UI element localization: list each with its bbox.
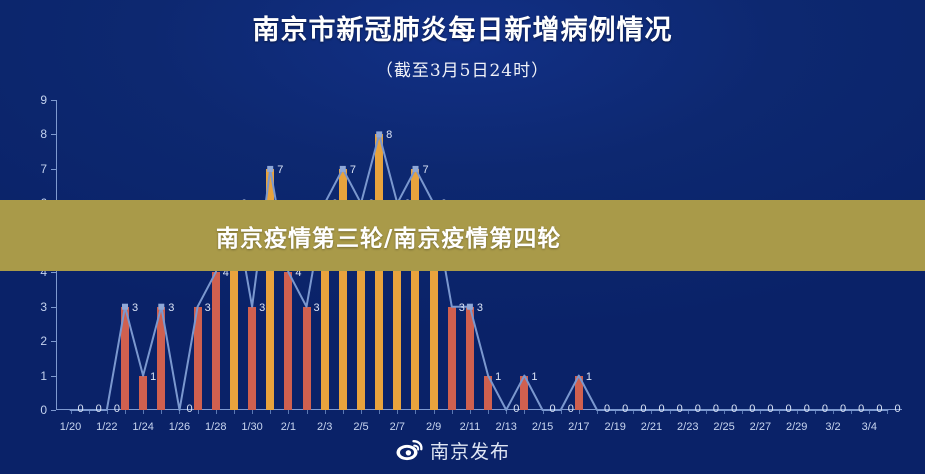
value-label: 0 — [658, 403, 664, 415]
value-label: 0 — [767, 403, 773, 415]
x-tick-mark — [452, 410, 453, 414]
value-label: 3 — [459, 302, 465, 314]
y-tick-label: 8 — [40, 127, 47, 141]
value-label: 0 — [604, 403, 610, 415]
y-tick-label: 3 — [40, 300, 47, 314]
x-tick-label: 1/26 — [169, 421, 190, 433]
x-tick-mark — [198, 410, 199, 414]
x-tick-label: 2/5 — [353, 421, 368, 433]
value-label: 0 — [894, 403, 900, 415]
line-vertex-marker — [158, 304, 164, 310]
title-block: 南京市新冠肺炎每日新增病例情况 （截至3月5日24时） — [0, 8, 925, 81]
x-tick-label: 3/4 — [862, 421, 877, 433]
x-tick-mark — [252, 410, 253, 414]
value-label: 3 — [132, 302, 138, 314]
value-label: 7 — [277, 164, 283, 176]
y-tick-mark — [51, 410, 56, 411]
x-tick-label: 2/27 — [750, 421, 771, 433]
line-vertex-marker — [376, 131, 382, 137]
line-vertex-marker — [340, 166, 346, 172]
value-label: 0 — [550, 403, 556, 415]
value-label: 0 — [640, 403, 646, 415]
value-label: 3 — [205, 302, 211, 314]
line-vertex-marker — [467, 304, 473, 310]
x-tick-mark — [488, 410, 489, 414]
x-tick-label: 2/1 — [281, 421, 296, 433]
overlay-banner: 南京疫情第三轮/南京疫情第四轮 — [0, 200, 925, 271]
value-label: 0 — [858, 403, 864, 415]
y-tick-label: 1 — [40, 369, 47, 383]
value-label: 0 — [622, 403, 628, 415]
value-label: 7 — [350, 164, 356, 176]
x-tick-label: 2/21 — [641, 421, 662, 433]
value-label: 1 — [586, 371, 592, 383]
value-label: 3 — [314, 302, 320, 314]
value-label: 0 — [749, 403, 755, 415]
x-tick-label: 2/9 — [426, 421, 441, 433]
value-label: 0 — [78, 403, 84, 415]
x-tick-mark — [234, 410, 235, 414]
x-tick-label: 2/13 — [496, 421, 517, 433]
x-tick-mark — [343, 410, 344, 414]
value-label: 1 — [495, 371, 501, 383]
x-tick-label: 1/30 — [241, 421, 262, 433]
value-label: 3 — [259, 302, 265, 314]
value-label: 0 — [568, 403, 574, 415]
x-tick-label: 2/19 — [604, 421, 625, 433]
x-tick-mark — [307, 410, 308, 414]
line-vertex-marker — [267, 166, 273, 172]
x-tick-mark — [325, 410, 326, 414]
x-tick-mark — [361, 410, 362, 414]
x-tick-label: 2/11 — [460, 421, 481, 433]
value-label: 0 — [677, 403, 683, 415]
x-tick-label: 2/29 — [786, 421, 807, 433]
value-label: 8 — [386, 129, 392, 141]
x-tick-mark — [270, 410, 271, 414]
x-tick-mark — [397, 410, 398, 414]
y-tick-label: 0 — [40, 403, 47, 417]
x-tick-label: 1/28 — [205, 421, 226, 433]
x-tick-mark — [143, 410, 144, 414]
chart-screenshot: 南京市新冠肺炎每日新增病例情况 （截至3月5日24时） 0123456789 1… — [0, 0, 925, 474]
overlay-banner-text: 南京疫情第三轮/南京疫情第四轮 — [216, 219, 561, 253]
x-tick-label: 2/15 — [532, 421, 553, 433]
value-label: 0 — [876, 403, 882, 415]
value-label: 0 — [804, 403, 810, 415]
value-label: 0 — [114, 403, 120, 415]
value-label: 0 — [186, 403, 192, 415]
y-tick-label: 9 — [40, 93, 47, 107]
value-label: 1 — [150, 371, 156, 383]
x-tick-label: 1/20 — [60, 421, 81, 433]
y-tick-label: 2 — [40, 334, 47, 348]
x-tick-label: 2/25 — [713, 421, 734, 433]
x-tick-mark — [161, 410, 162, 414]
x-tick-mark — [125, 410, 126, 414]
x-tick-mark — [415, 410, 416, 414]
x-tick-label: 2/3 — [317, 421, 332, 433]
x-tick-label: 1/24 — [132, 421, 153, 433]
x-tick-mark — [524, 410, 525, 414]
value-label: 7 — [422, 164, 428, 176]
line-vertex-marker — [122, 304, 128, 310]
line-vertex-marker — [413, 166, 419, 172]
value-label: 0 — [822, 403, 828, 415]
x-tick-mark — [216, 410, 217, 414]
x-tick-label: 3/2 — [825, 421, 840, 433]
x-tick-mark — [579, 410, 580, 414]
x-tick-mark — [379, 410, 380, 414]
value-label: 0 — [513, 403, 519, 415]
y-tick-label: 7 — [40, 162, 47, 176]
value-label: 0 — [96, 403, 102, 415]
value-label: 0 — [786, 403, 792, 415]
x-tick-label: 1/22 — [96, 421, 117, 433]
value-label: 1 — [531, 371, 537, 383]
x-tick-mark — [288, 410, 289, 414]
x-tick-label: 2/7 — [390, 421, 405, 433]
chart-subtitle: （截至3月5日24时） — [0, 56, 925, 81]
value-label: 0 — [731, 403, 737, 415]
value-label: 0 — [840, 403, 846, 415]
value-label: 3 — [168, 302, 174, 314]
watermark-text: 南京发布 — [430, 437, 510, 464]
value-label: 0 — [695, 403, 701, 415]
x-tick-label: 2/23 — [677, 421, 698, 433]
value-label: 0 — [713, 403, 719, 415]
value-label: 3 — [477, 302, 483, 314]
x-tick-mark — [470, 410, 471, 414]
x-tick-label: 2/17 — [568, 421, 589, 433]
watermark: 南京发布 — [396, 437, 510, 464]
weibo-icon — [396, 440, 423, 461]
chart-title: 南京市新冠肺炎每日新增病例情况 — [0, 8, 925, 47]
x-tick-mark — [434, 410, 435, 414]
